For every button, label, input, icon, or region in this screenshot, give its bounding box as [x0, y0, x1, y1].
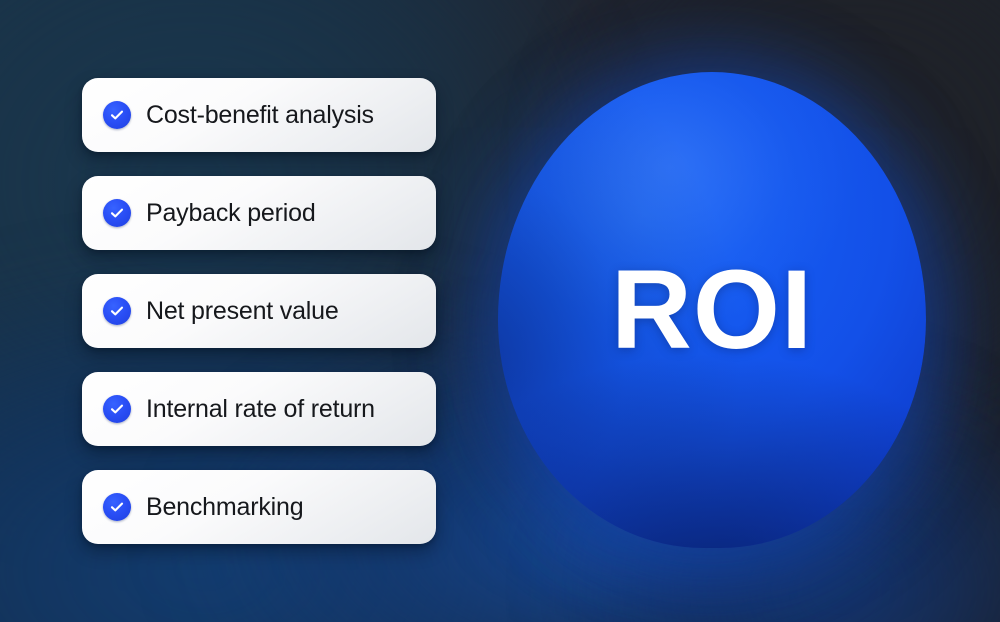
checklist-item-label: Cost-benefit analysis — [146, 101, 374, 130]
checklist-item-label: Payback period — [146, 199, 316, 228]
checklist-item-cost-benefit-analysis[interactable]: Cost-benefit analysis — [82, 78, 436, 152]
checklist-item-label: Benchmarking — [146, 493, 303, 522]
checklist: Cost-benefit analysis Payback period Net… — [82, 78, 436, 544]
checklist-item-net-present-value[interactable]: Net present value — [82, 274, 436, 348]
roi-sphere-label: ROI — [498, 72, 926, 548]
check-circle-icon — [103, 493, 131, 521]
check-circle-icon — [103, 199, 131, 227]
roi-infographic: ROI Cost-benefit analysis Payback period — [0, 0, 1000, 622]
checklist-item-internal-rate-of-return[interactable]: Internal rate of return — [82, 372, 436, 446]
checklist-item-label: Internal rate of return — [146, 395, 375, 424]
checklist-item-benchmarking[interactable]: Benchmarking — [82, 470, 436, 544]
check-circle-icon — [103, 101, 131, 129]
check-circle-icon — [103, 297, 131, 325]
checklist-item-label: Net present value — [146, 297, 339, 326]
checklist-item-payback-period[interactable]: Payback period — [82, 176, 436, 250]
check-circle-icon — [103, 395, 131, 423]
